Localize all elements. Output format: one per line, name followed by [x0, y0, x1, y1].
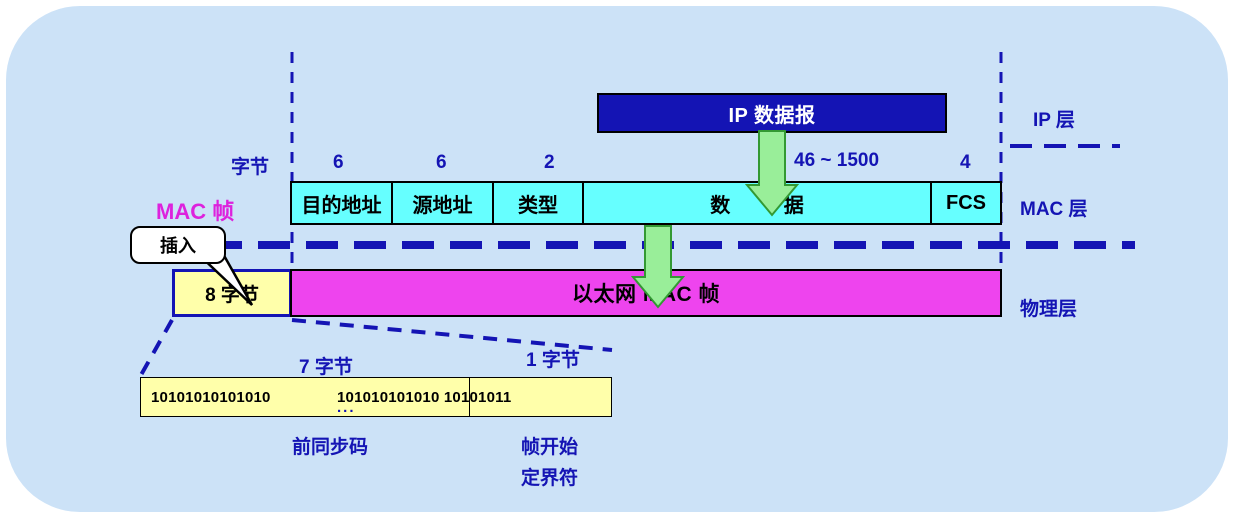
- sfd-caption-line1: 帧开始: [521, 432, 578, 459]
- preamble-8byte-box: 8 字节: [172, 269, 292, 317]
- bytes-fcs: 4: [960, 152, 971, 174]
- physical-frame-row: 8 字节 以太网 MAC 帧: [172, 269, 1002, 317]
- preamble-bits-middle: 101010101010 10101011: [337, 377, 511, 417]
- layer-label-physical: 物理层: [1020, 294, 1077, 321]
- sfd-bytes-label: 1 字节: [526, 345, 580, 372]
- mac-field-type: 类型: [492, 181, 584, 225]
- mac-field-destination-address: 目的地址: [290, 181, 393, 225]
- mac-frame-row: 目的地址 源地址 类型 数 据 FCS: [290, 181, 1002, 225]
- preamble-caption: 前同步码: [292, 432, 368, 459]
- layer-label-mac: MAC 层: [1020, 194, 1088, 221]
- ethernet-mac-frame-box: 以太网 MAC 帧: [290, 269, 1002, 317]
- layer-label-ip: IP 层: [1033, 105, 1075, 132]
- mac-field-data: 数 据: [582, 181, 932, 225]
- bits-ellipsis-dots: ...: [337, 400, 356, 415]
- sfd-caption-line2: 定界符: [521, 463, 578, 490]
- mac-field-fcs: FCS: [930, 181, 1002, 225]
- ip-datagram-box: IP 数据报: [597, 93, 947, 133]
- mac-frame-side-label: MAC 帧: [156, 194, 234, 226]
- bytes-type: 2: [544, 152, 555, 174]
- insert-callout: 插入: [130, 226, 226, 264]
- mac-field-source-address: 源地址: [391, 181, 494, 225]
- bytes-destination-address: 6: [333, 152, 344, 174]
- diagram-canvas: IP 数据报 目的地址 源地址 类型 数 据 FCS 字节 6 6 2 46 ~…: [0, 0, 1234, 518]
- bytes-source-address: 6: [436, 152, 447, 174]
- bytes-data: 46 ~ 1500: [794, 150, 879, 172]
- preamble-bytes-label: 7 字节: [299, 352, 353, 379]
- byte-header-label: 字节: [231, 152, 269, 179]
